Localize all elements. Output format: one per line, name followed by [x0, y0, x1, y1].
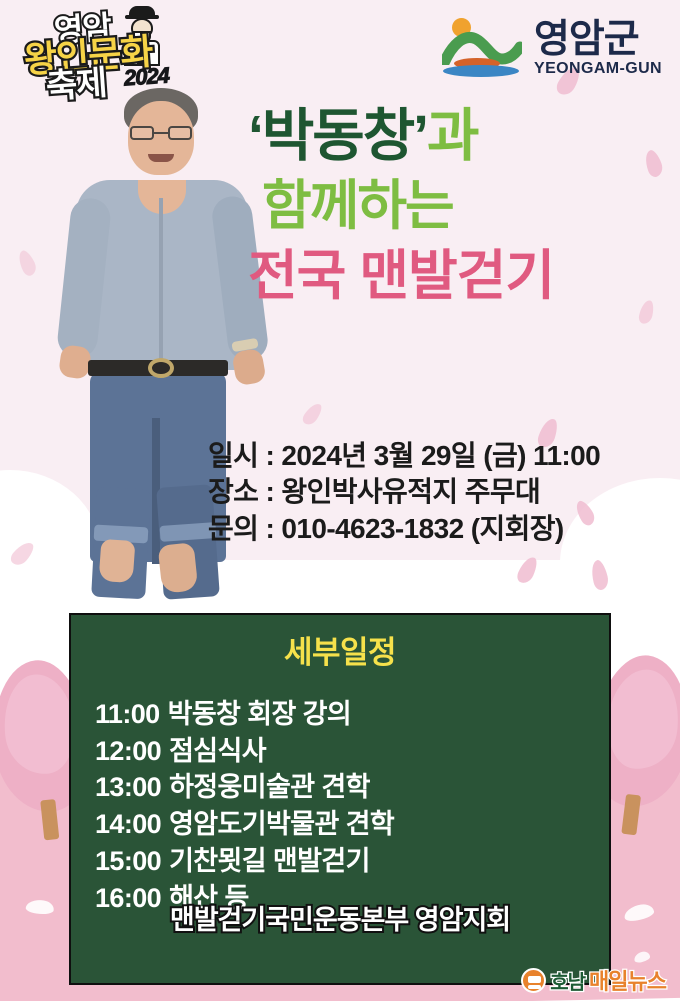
organizer-name: 맨발걷기국민운동본부 영암지회 — [71, 898, 609, 937]
person-mouth — [148, 154, 174, 162]
watermark-text-maeilnews: 매일뉴스 — [589, 964, 666, 996]
event-poster: 영암 왕인문화 축제 2024 영암군 YEONGAM-GUN — [0, 0, 680, 1001]
county-name-en: YEONGAM-GUN — [534, 61, 662, 77]
info-row-contact: 문의 : 010-4623-1832 (지회장) — [208, 511, 600, 547]
schedule-item: 12:00점심식사 — [95, 733, 609, 770]
yeongam-gun-symbol-icon — [438, 16, 524, 80]
headline-line-3: 전국 맨발걷기 — [248, 249, 672, 303]
info-row-datetime: 일시 : 2024년 3월 29일 (금) 11:00 — [208, 438, 600, 474]
headline-line-2: 함께하는 — [248, 179, 672, 233]
schedule-text: 기찬묏길 맨발걷기 — [169, 846, 370, 876]
schedule-text: 하정웅미술관 견학 — [169, 772, 370, 802]
schedule-text: 박동창 회장 강의 — [168, 699, 351, 729]
schedule-item: 13:00하정웅미술관 견학 — [95, 769, 609, 806]
headline-name: ‘박동창’ — [248, 104, 427, 168]
schedule-time: 14:00 — [95, 809, 161, 839]
yeongam-gun-wordmark: 영암군 YEONGAM-GUN — [534, 20, 662, 77]
event-info-block: 일시 : 2024년 3월 29일 (금) 11:00 장소 : 왕인박사유적지… — [208, 438, 600, 547]
festival-line-3: 축제 — [45, 66, 108, 104]
schedule-time: 12:00 — [95, 736, 161, 766]
schedule-text: 점심식사 — [169, 736, 266, 766]
person-bare-foot-left — [99, 539, 136, 583]
schedule-board-title: 세부일정 — [71, 627, 609, 672]
honam-news-logo-icon — [521, 968, 546, 993]
schedule-time: 15:00 — [95, 846, 161, 876]
petal-icon — [300, 400, 324, 427]
schedule-text: 영암도기박물관 견학 — [169, 809, 394, 839]
poster-headline: ‘박동창’과 함께하는 전국 맨발걷기 — [248, 108, 672, 303]
schedule-item: 11:00박동창 회장 강의 — [95, 696, 609, 733]
festival-logo-badge: 영암 왕인문화 축제 2024 — [18, 4, 178, 110]
county-name-kr: 영암군 — [534, 20, 662, 59]
watermark-text-honam: 호남 — [550, 966, 585, 995]
belt-buckle-icon — [148, 358, 174, 378]
schedule-list: 11:00박동창 회장 강의 12:00점심식사 13:00하정웅미술관 견학 … — [95, 696, 609, 916]
schedule-time: 11:00 — [95, 699, 160, 729]
yeongam-gun-logo: 영암군 YEONGAM-GUN — [438, 16, 662, 80]
headline-particle: 과 — [427, 104, 477, 168]
news-watermark: 호남 매일뉴스 — [521, 964, 666, 996]
person-bare-foot-right — [158, 542, 199, 594]
headline-line-1: ‘박동창’과 — [248, 108, 672, 165]
schedule-board: 세부일정 11:00박동창 회장 강의 12:00점심식사 13:00하정웅미술… — [69, 613, 611, 985]
glasses-icon — [130, 126, 192, 140]
scholar-hat — [129, 6, 155, 18]
festival-year: 2024 — [123, 64, 169, 89]
person-hand-left — [58, 344, 92, 380]
schedule-item: 14:00영암도기박물관 견학 — [95, 806, 609, 843]
schedule-time: 13:00 — [95, 772, 161, 802]
info-row-location: 장소 : 왕인박사유적지 주무대 — [208, 474, 600, 510]
petal-icon — [15, 248, 39, 278]
blue-water-ellipse-icon — [443, 65, 519, 77]
schedule-item: 15:00기찬묏길 맨발걷기 — [95, 843, 609, 880]
